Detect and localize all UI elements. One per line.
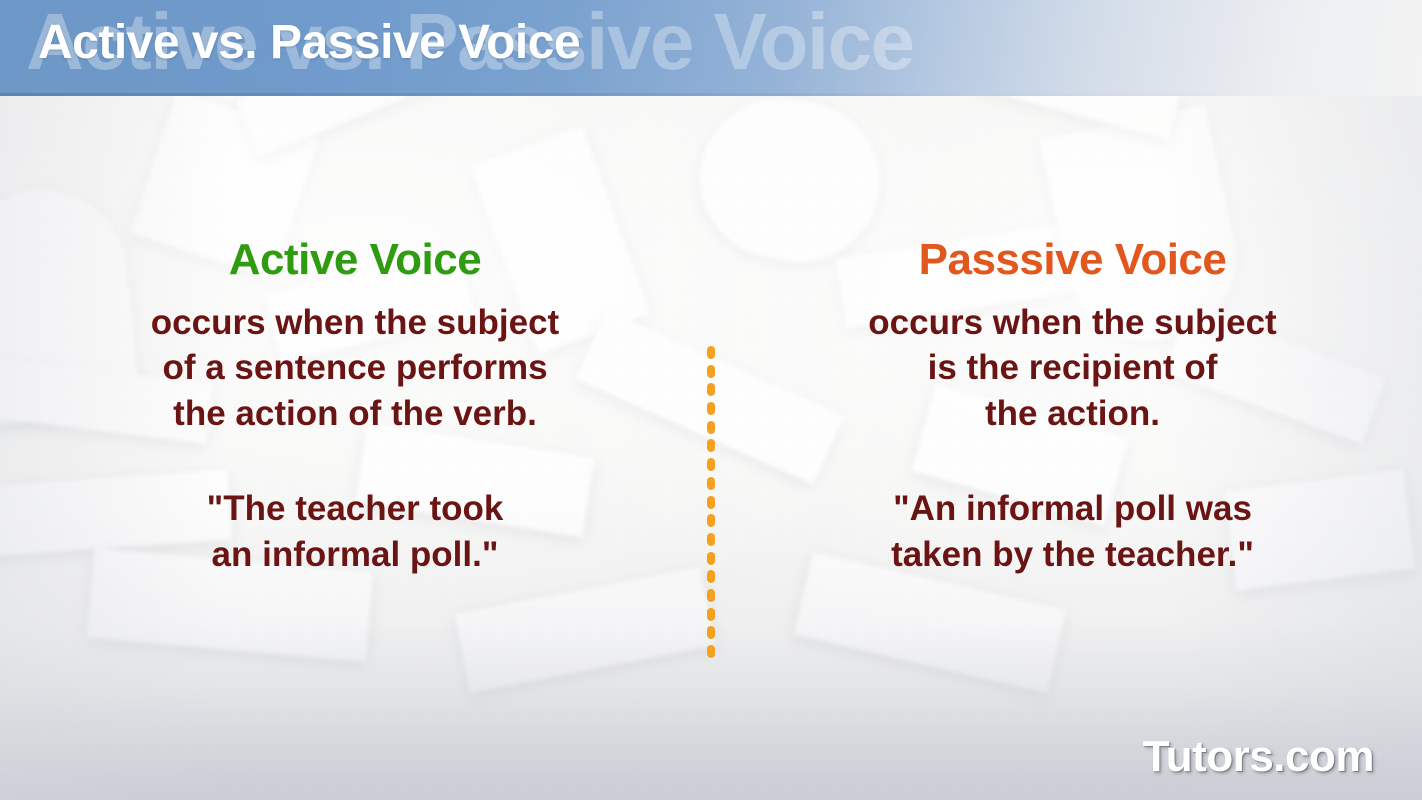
passive-voice-example: "An informal poll was taken by the teach…	[775, 486, 1370, 577]
example-line: "An informal poll was	[775, 486, 1370, 532]
divider-dot	[707, 608, 715, 621]
divider-dot	[707, 589, 715, 602]
definition-line: occurs when the subject	[60, 300, 650, 346]
active-voice-example: "The teacher took an informal poll."	[60, 486, 650, 577]
slide-canvas: Active vs. Passive Voice Active vs. Pass…	[0, 0, 1422, 800]
divider-dot	[707, 533, 715, 546]
active-voice-definition: occurs when the subject of a sentence pe…	[60, 300, 650, 437]
divider-dot	[707, 496, 715, 509]
divider-dot	[707, 514, 715, 527]
divider-dot	[707, 458, 715, 471]
divider-dot	[707, 421, 715, 434]
divider-dot	[707, 477, 715, 490]
passive-voice-definition: occurs when the subject is the recipient…	[775, 300, 1370, 437]
tutors-com-logo: Tutors.com	[1143, 732, 1374, 782]
column-divider	[707, 346, 715, 658]
divider-dot	[707, 402, 715, 415]
header-band: Active vs. Passive Voice Active vs. Pass…	[0, 0, 1422, 96]
example-line: "The teacher took	[60, 486, 650, 532]
definition-line: occurs when the subject	[775, 300, 1370, 346]
definition-line: is the recipient of	[775, 345, 1370, 391]
column-active-voice: Active Voice occurs when the subject of …	[60, 236, 650, 577]
active-voice-heading: Active Voice	[60, 236, 650, 284]
divider-dot	[707, 570, 715, 583]
divider-dot	[707, 383, 715, 396]
divider-dot	[707, 346, 715, 359]
divider-dot	[707, 552, 715, 565]
column-passive-voice: Passsive Voice occurs when the subject i…	[775, 236, 1370, 577]
divider-dot	[707, 439, 715, 452]
definition-line: the action.	[775, 391, 1370, 437]
passive-voice-heading: Passsive Voice	[775, 236, 1370, 284]
definition-line: the action of the verb.	[60, 391, 650, 437]
divider-dot	[707, 626, 715, 639]
divider-dot	[707, 645, 715, 658]
example-line: an informal poll."	[60, 532, 650, 578]
divider-dot	[707, 365, 715, 378]
definition-line: of a sentence performs	[60, 345, 650, 391]
content-columns: Active Voice occurs when the subject of …	[0, 96, 1422, 800]
example-line: taken by the teacher."	[775, 532, 1370, 578]
page-title: Active vs. Passive Voice	[38, 0, 580, 86]
